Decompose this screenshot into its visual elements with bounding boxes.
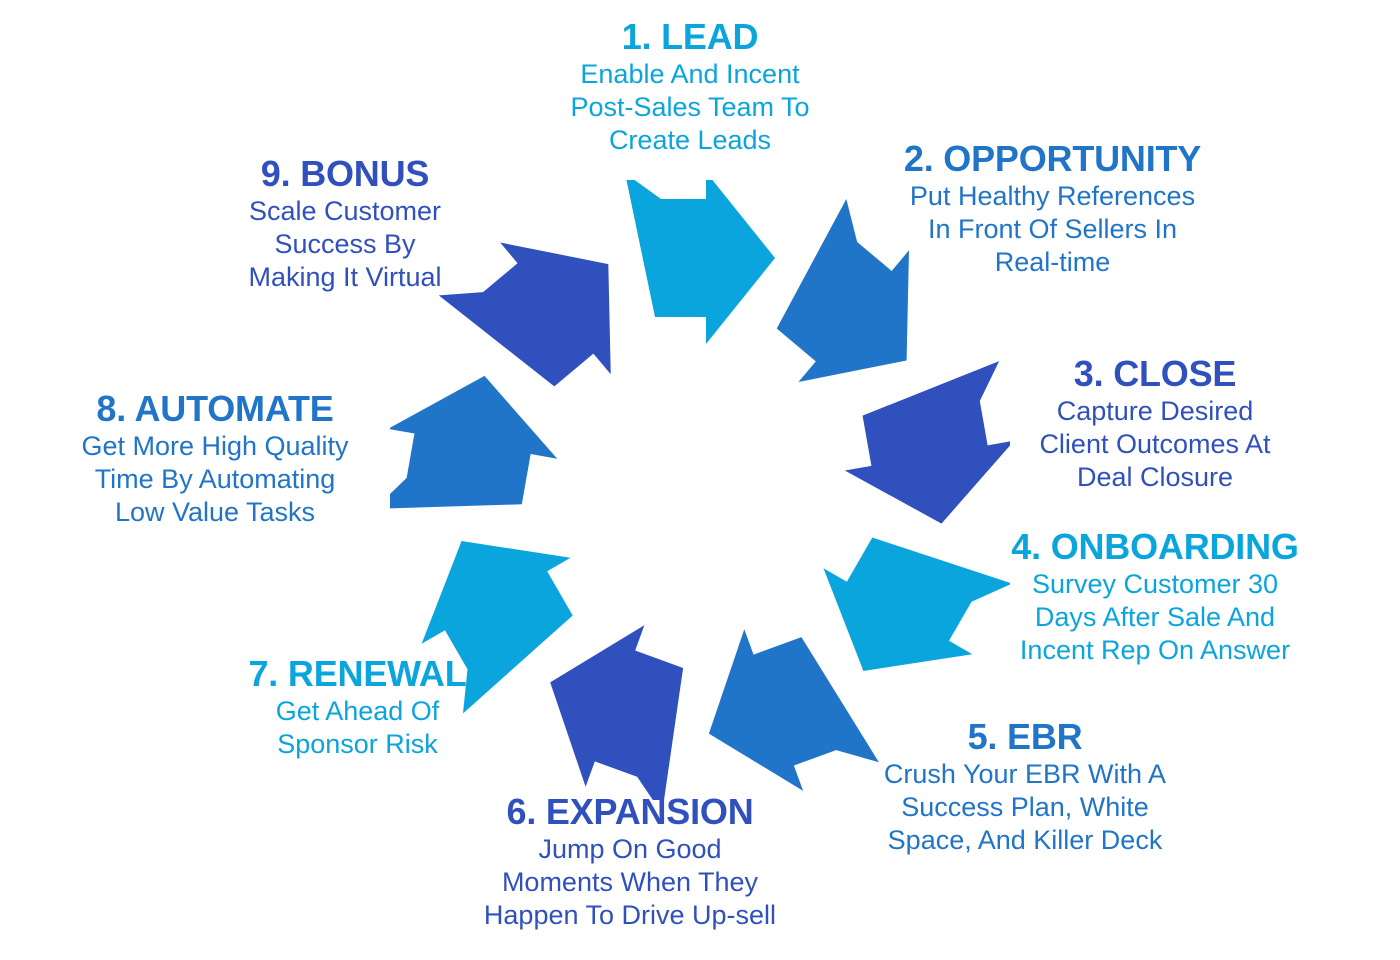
step-desc-line: Put Healthy References [880,180,1225,213]
step-desc-line: Get Ahead Of [215,695,500,728]
step-desc-line: Low Value Tasks [45,496,385,529]
step-desc-renewal: Get Ahead Of Sponsor Risk [215,695,500,760]
step-label-close[interactable]: 3. CLOSE Capture Desired Client Outcomes… [990,355,1320,493]
step-desc-line: Days After Sale And [975,601,1335,634]
step-desc-line: Deal Closure [990,461,1320,494]
step-desc-line: Get More High Quality [45,430,385,463]
step-label-ebr[interactable]: 5. EBR Crush Your EBR With A Success Pla… [845,718,1205,856]
step-title-renewal: 7. RENEWAL [215,655,500,692]
step-desc-opportunity: Put Healthy References In Front Of Selle… [880,180,1225,278]
step-label-automate[interactable]: 8. AUTOMATE Get More High Quality Time B… [45,390,385,528]
cycle-arrow-close[interactable] [831,361,1010,539]
step-desc-line: Incent Rep On Answer [975,634,1335,667]
step-desc-line: Crush Your EBR With A [845,758,1205,791]
step-desc-line: Survey Customer 30 [975,568,1335,601]
step-desc-line: Happen To Drive Up-sell [455,899,805,932]
step-desc-expansion: Jump On Good Moments When They Happen To… [455,833,805,931]
cycle-arrow-automate[interactable] [390,361,569,539]
step-desc-line: Sponsor Risk [215,728,500,761]
step-title-bonus: 9. BONUS [200,155,490,192]
step-desc-line: Jump On Good [455,833,805,866]
step-desc-line: Capture Desired [990,395,1320,428]
step-title-opportunity: 2. OPPORTUNITY [880,140,1225,177]
step-desc-lead: Enable And Incent Post-Sales Team To Cre… [512,58,868,156]
step-desc-line: Moments When They [455,866,805,899]
step-desc-line: Space, And Killer Deck [845,824,1205,857]
step-label-onboarding[interactable]: 4. ONBOARDING Survey Customer 30 Days Af… [975,528,1335,666]
step-title-onboarding: 4. ONBOARDING [975,528,1335,565]
step-desc-line: Client Outcomes At [990,428,1320,461]
step-desc-close: Capture Desired Client Outcomes At Deal … [990,395,1320,493]
step-desc-line: Success By [200,228,490,261]
step-desc-line: In Front Of Sellers In [880,213,1225,246]
step-desc-automate: Get More High Quality Time By Automating… [45,430,385,528]
step-desc-line: Post-Sales Team To [512,91,868,124]
step-label-lead[interactable]: 1. LEAD Enable And Incent Post-Sales Tea… [512,18,868,156]
step-desc-line: Real-time [880,246,1225,279]
step-label-bonus[interactable]: 9. BONUS Scale Customer Success By Makin… [200,155,490,293]
cycle-diagram: 1. LEAD Enable And Incent Post-Sales Tea… [0,0,1400,960]
step-desc-line: Enable And Incent [512,58,868,91]
step-label-opportunity[interactable]: 2. OPPORTUNITY Put Healthy References In… [880,140,1225,278]
step-title-ebr: 5. EBR [845,718,1205,755]
step-desc-line: Making It Virtual [200,261,490,294]
step-desc-line: Create Leads [512,124,868,157]
step-desc-line: Success Plan, White [845,791,1205,824]
step-desc-ebr: Crush Your EBR With A Success Plan, Whit… [845,758,1205,856]
step-title-expansion: 6. EXPANSION [455,793,805,830]
step-label-expansion[interactable]: 6. EXPANSION Jump On Good Moments When T… [455,793,805,931]
step-desc-onboarding: Survey Customer 30 Days After Sale And I… [975,568,1335,666]
step-desc-line: Scale Customer [200,195,490,228]
step-title-close: 3. CLOSE [990,355,1320,392]
step-desc-line: Time By Automating [45,463,385,496]
step-label-renewal[interactable]: 7. RENEWAL Get Ahead Of Sponsor Risk [215,655,500,761]
step-title-automate: 8. AUTOMATE [45,390,385,427]
cycle-arrow-lead[interactable] [625,180,775,344]
step-title-lead: 1. LEAD [512,18,868,55]
step-desc-bonus: Scale Customer Success By Making It Virt… [200,195,490,293]
